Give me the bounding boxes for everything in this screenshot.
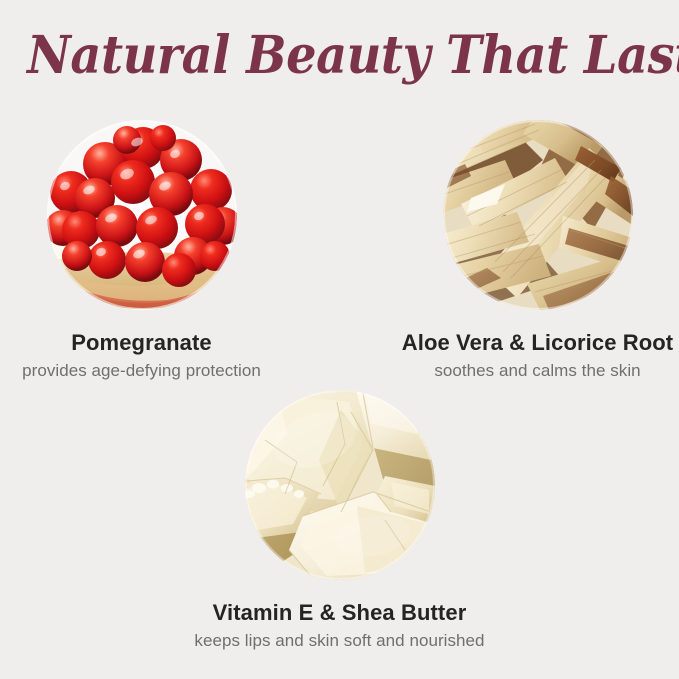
pomegranate-arils-photo <box>47 120 237 310</box>
ingredient-card-vitamine-shea: Vitamin E & Shea Butter keeps lips and s… <box>190 390 490 652</box>
ingredient-description: keeps lips and skin soft and nourished <box>190 631 490 651</box>
ingredient-description: soothes and calms the skin <box>396 361 679 381</box>
ingredient-name: Vitamin E & Shea Butter <box>190 600 490 625</box>
caption-pomegranate: Pomegranate provides age-defying protect… <box>0 330 283 382</box>
ingredient-name: Aloe Vera & Licorice Root <box>396 330 679 355</box>
shea-butter-chunks-photo <box>245 390 435 580</box>
ingredient-card-pomegranate: Pomegranate provides age-defying protect… <box>0 120 283 382</box>
ingredient-name: Pomegranate <box>0 330 283 355</box>
licorice-root-slices-photo <box>443 120 633 310</box>
caption-aloe-licorice: Aloe Vera & Licorice Root soothes and ca… <box>396 330 679 382</box>
ingredient-row-bottom: Vitamin E & Shea Butter keeps lips and s… <box>0 390 679 652</box>
ingredient-highlights-panel: Natural Beauty That Lasts <box>0 0 679 679</box>
ingredient-card-aloe-licorice: Aloe Vera & Licorice Root soothes and ca… <box>396 120 679 382</box>
page-title: Natural Beauty That Lasts <box>27 26 652 86</box>
caption-vitamine-shea: Vitamin E & Shea Butter keeps lips and s… <box>190 600 490 652</box>
ingredient-row-top: Pomegranate provides age-defying protect… <box>0 120 679 382</box>
ingredient-description: provides age-defying protection <box>0 361 283 381</box>
